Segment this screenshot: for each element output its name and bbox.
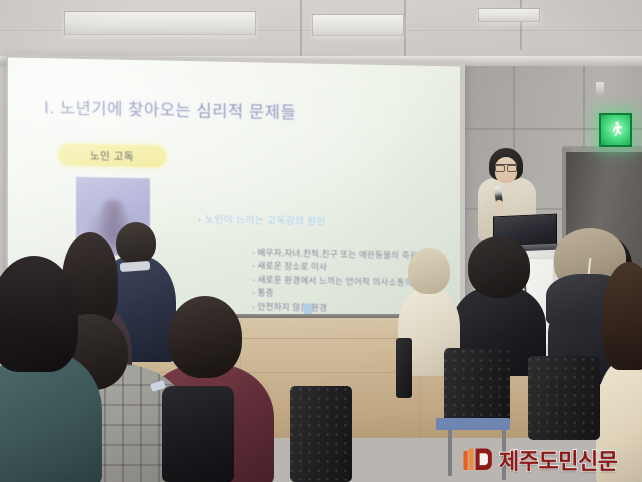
- chair: [444, 348, 510, 424]
- chair: [528, 356, 600, 440]
- bullet-marker-icon: •: [198, 215, 201, 224]
- chair-leg: [448, 424, 452, 476]
- presenter-hand: [494, 200, 504, 212]
- slide-section-bullet-label: 노인이 느끼는 고독감의 원인: [205, 214, 326, 227]
- running-person-exit-icon: [609, 119, 623, 141]
- watermark-logo: 제주도민신문: [463, 444, 617, 476]
- slide-title: Ⅰ. 노년기에 찾아오는 심리적 문제들: [44, 94, 296, 123]
- ceiling-light-fixture: [312, 14, 404, 36]
- audience-member-1: [0, 256, 102, 482]
- chair-seat: [436, 418, 510, 430]
- glasses-icon: [495, 164, 517, 171]
- slide-section-bullet: •노인이 느끼는 고독감의 원인: [198, 211, 326, 228]
- chair: [396, 338, 412, 398]
- ceiling-light-fixture: [64, 11, 256, 35]
- jeju-domin-logo-icon: [463, 446, 494, 474]
- ceiling-light-fixture: [478, 8, 540, 22]
- chair: [290, 386, 352, 482]
- handbag: [162, 386, 234, 482]
- ceiling-fitting: [596, 82, 604, 96]
- emergency-exit-sign: [599, 113, 632, 147]
- watermark-text: 제주도민신문: [499, 444, 617, 476]
- slide-topic-pill-label: 노인 고독: [58, 143, 166, 167]
- slide-topic-pill: 노인 고독: [58, 143, 166, 167]
- photograph-lecture-scene: Ⅰ. 노년기에 찾아오는 심리적 문제들 노인 고독 •노인이 느끼는 고독감의…: [0, 0, 642, 482]
